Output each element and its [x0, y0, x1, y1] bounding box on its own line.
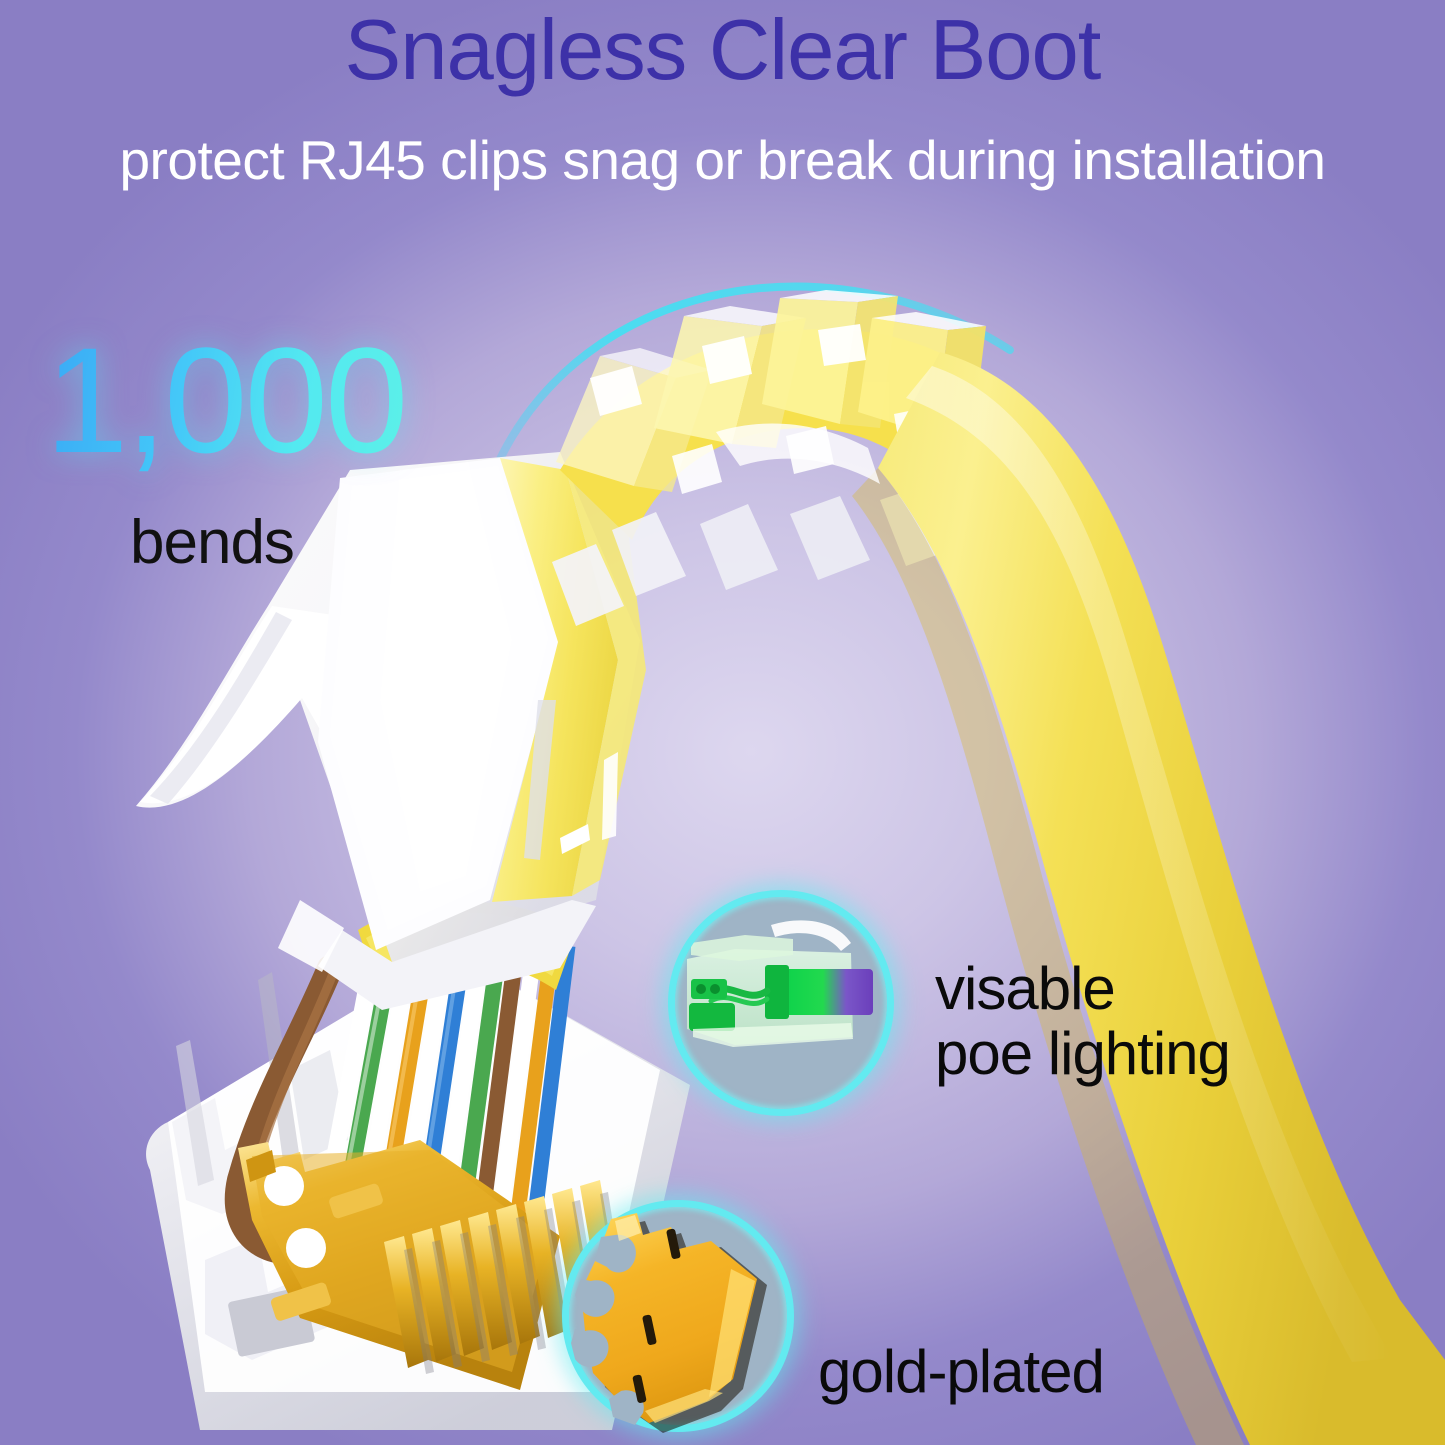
bend-count-value: 1,000	[45, 325, 405, 475]
rj45-glowing-connector-icon	[675, 897, 887, 1109]
poe-lighting-label-line1: visable	[935, 957, 1230, 1022]
banner-subtitle: protect RJ45 clips snag or break during …	[0, 132, 1445, 190]
gold-contact-blade-icon	[569, 1207, 787, 1425]
bend-count-label: bends	[130, 512, 294, 574]
gold-plated-label: gold-plated	[818, 1340, 1104, 1405]
gold-plated-circle	[562, 1200, 794, 1432]
banner-title: Snagless Clear Boot	[0, 8, 1445, 93]
poe-lighting-label-line2: poe lighting	[935, 1022, 1230, 1087]
product-feature-banner: Snagless Clear Boot protect RJ45 clips s…	[0, 0, 1445, 1445]
poe-lighting-label: visable poe lighting	[935, 957, 1230, 1087]
poe-lighting-circle	[668, 890, 894, 1116]
